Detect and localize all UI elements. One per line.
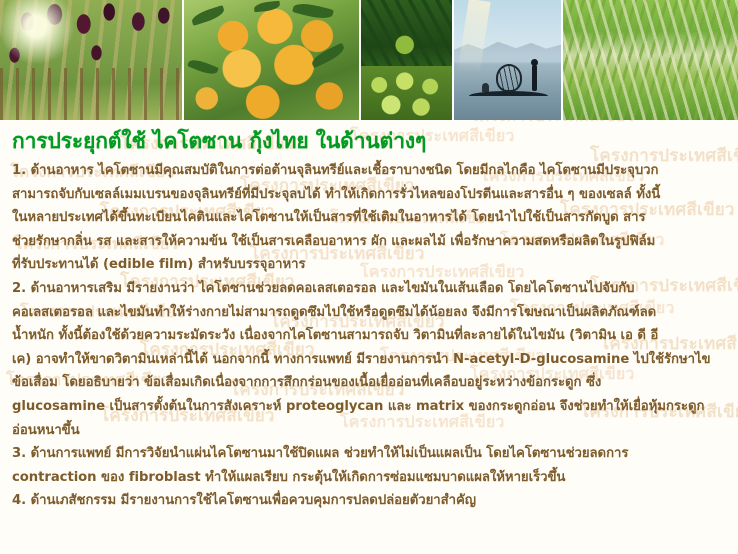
body-paragraph: อ่อนหนาขึ้น: [12, 420, 728, 443]
conical-fishing-net: [496, 64, 522, 92]
body-paragraph: ข้อเสื่อม โดยอธิบายว่า ข้อเสื่อมเกิดเนื่…: [12, 372, 728, 395]
body-paragraph: น้ำหนัก ทั้งนี้ต้องใช้ด้วยความระมัดระวัง…: [12, 325, 728, 348]
rice-field-photo: [563, 0, 738, 120]
body-paragraph: contraction ของ fibroblast ทำให้แผลเรียบ…: [12, 467, 728, 490]
body-paragraph: ในหลายประเทศได้ขึ้นทะเบียนไคตินและไคโตซา…: [12, 207, 728, 230]
seated-person-silhouette: [482, 83, 489, 92]
body-paragraph: สามารถจับกับเซลล์เมมเบรนของจุลินทรีย์ที่…: [12, 184, 728, 207]
body-paragraph: ช่วยรักษากลิ่น รส และสารให้ความข้น ใช้เป…: [12, 231, 728, 254]
banner-panel-fisherman: [452, 0, 561, 120]
green-citrus-photo: [361, 0, 452, 66]
lime-pile-photo: [361, 66, 452, 120]
banner-panel-citrus-cluster: [182, 0, 359, 120]
standing-fisherman-silhouette: [532, 65, 537, 91]
body-text-block: 1. ด้านอาหาร ไคโตซานมีคุณสมบัติในการต่อต…: [12, 160, 728, 513]
body-paragraph: 4. ด้านเภสัชกรรม มีรายงานการใช้ไคโตซานเพ…: [12, 490, 728, 513]
slide-content: การประยุกต์ใช้ ไคโตซาน กุ้งไทย ในด้านต่า…: [0, 120, 738, 554]
banner-panel-rice-paddy: [561, 0, 738, 120]
body-paragraph: คอเลสเตอรอล และไขมันทำให้ร่างกายไม่สามาร…: [12, 302, 728, 325]
body-paragraph: เค) อาจทำให้ขาดวิตามินเหล่านี้ได้ นอกจาก…: [12, 349, 728, 372]
body-paragraph: 2. ด้านอาหารเสริม มีรายงานว่า ไคโตซานช่ว…: [12, 278, 728, 301]
body-paragraph: glucosamine เป็นสารตั้งต้นในการสังเคราะห…: [12, 396, 728, 419]
header-image-banner: [0, 0, 738, 120]
body-paragraph: ที่รับประทานได้ (edible film) สำหรับบรรจ…: [12, 254, 728, 277]
vineyard-posts: [0, 68, 182, 120]
slide-page: โครงการประเทศสีเขียวโครงการประเทศสีเขียว…: [0, 0, 738, 554]
page-title: การประยุกต์ใช้ ไคโตซาน กุ้งไทย ในด้านต่า…: [12, 126, 728, 156]
body-paragraph: 1. ด้านอาหาร ไคโตซานมีคุณสมบัติในการต่อต…: [12, 160, 728, 183]
banner-panel-vineyard: [0, 0, 182, 120]
banner-panel-citrus-split: [359, 0, 452, 120]
body-paragraph: 3. ด้านการแพทย์ มีการวิจัยนำแผ่นไคโตซานม…: [12, 443, 728, 466]
